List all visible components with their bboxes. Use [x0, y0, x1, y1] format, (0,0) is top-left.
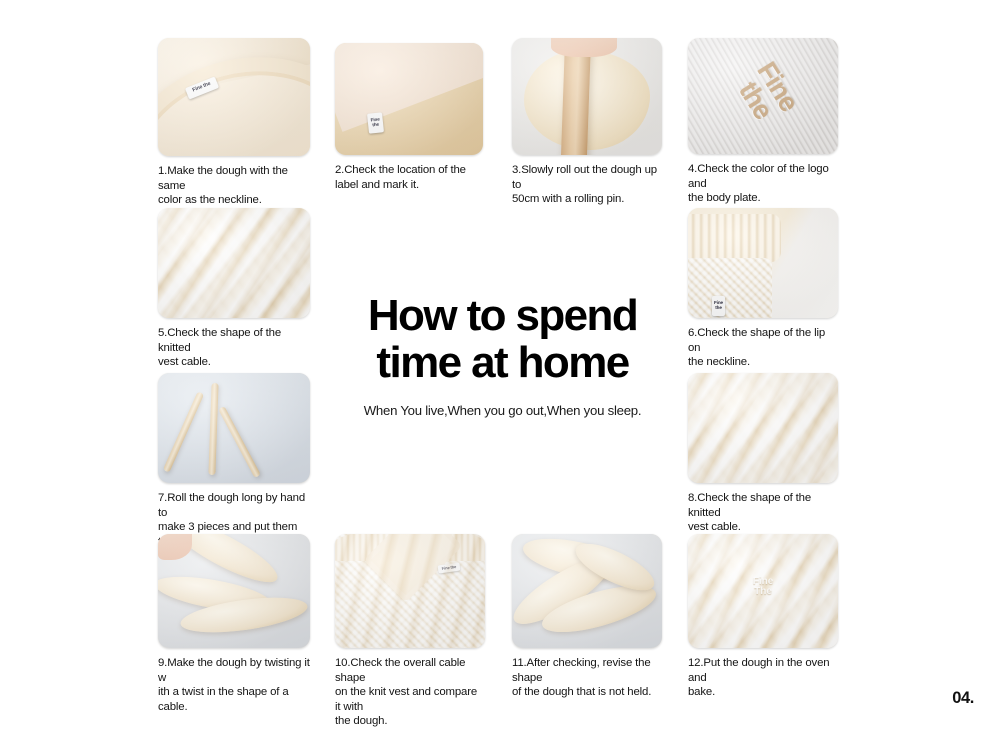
step-image-8 [688, 373, 838, 483]
step-caption-9: 9.Make the dough by twisting it w ith a … [158, 656, 310, 714]
page-subtitle: When You live,When you go out,When you s… [330, 402, 675, 419]
step-caption-3: 3.Slowly roll out the dough up to 50cm w… [512, 163, 662, 207]
poster-page: Fine the 1.Make the dough with the same … [0, 0, 1000, 719]
step-image-5 [158, 208, 310, 318]
step-caption-1: 1.Make the dough with the same color as … [158, 164, 310, 208]
knit-body-panel [688, 258, 772, 318]
rib-cuff-upper [688, 214, 781, 262]
step-caption-8: 8.Check the shape of the knitted vest ca… [688, 491, 838, 535]
step-caption-6: 6.Check the shape of the lip on the neck… [688, 326, 838, 370]
step-card-5[interactable]: 5.Check the shape of the knitted vest ca… [158, 208, 310, 370]
step-card-12[interactable]: Fine The 12.Put the dough in the oven an… [688, 534, 838, 700]
step-card-7[interactable]: 7.Roll the dough long by hand to make 3 … [158, 373, 310, 549]
step-image-6: Fine the [688, 208, 838, 318]
step-card-9[interactable]: 9.Make the dough by twisting it w ith a … [158, 534, 310, 714]
title-block: How to spend time at home When You live,… [330, 292, 675, 419]
step-image-11 [512, 534, 662, 648]
step-image-10: Fine the [335, 534, 485, 648]
step-image-2: Fine the [335, 43, 483, 155]
step-caption-2: 2.Check the location of the label and ma… [335, 163, 483, 192]
step-card-6[interactable]: Fine the 6.Check the shape of the lip on… [688, 208, 838, 370]
step-card-1[interactable]: Fine the 1.Make the dough with the same … [158, 38, 310, 208]
step-caption-5: 5.Check the shape of the knitted vest ca… [158, 326, 310, 370]
step-card-8[interactable]: 8.Check the shape of the knitted vest ca… [688, 373, 838, 535]
step-image-7 [158, 373, 310, 483]
knit-logo: Fine The [733, 577, 793, 597]
cable-ridges [688, 373, 838, 483]
cable-ridges [335, 534, 485, 648]
step-card-11[interactable]: 11.After checking, revise the shape of t… [512, 534, 662, 700]
step-card-10[interactable]: Fine the 10.Check the overall cable shap… [335, 534, 485, 729]
step-card-4[interactable]: Fine the 4.Check the color of the logo a… [688, 38, 838, 206]
step-caption-11: 11.After checking, revise the shape of t… [512, 656, 662, 700]
page-title: How to spend time at home [330, 292, 675, 386]
page-number: 04. [952, 689, 974, 708]
step-caption-10: 10.Check the overall cable shape on the … [335, 656, 485, 729]
brand-label-tag: Fine the [367, 112, 384, 133]
step-image-1: Fine the [158, 38, 310, 156]
step-image-3 [512, 38, 662, 155]
step-card-2[interactable]: Fine the 2.Check the location of the lab… [335, 43, 483, 192]
hand-fingers [551, 38, 617, 57]
step-caption-12: 12.Put the dough in the oven and bake. [688, 656, 838, 700]
step-image-4: Fine the [688, 38, 838, 154]
step-image-9 [158, 534, 310, 648]
step-card-3[interactable]: 3.Slowly roll out the dough up to 50cm w… [512, 38, 662, 207]
brand-label-tag: Fine the [712, 296, 725, 316]
cable-ridges [158, 208, 310, 318]
step-image-12: Fine The [688, 534, 838, 648]
step-caption-4: 4.Check the color of the logo and the bo… [688, 162, 838, 206]
